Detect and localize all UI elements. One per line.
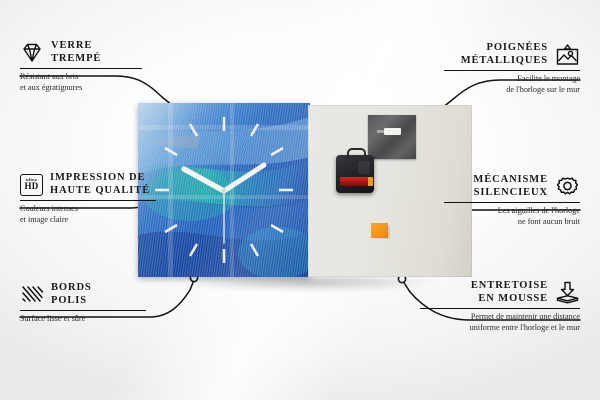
callout-description: Couleurs intenses et image claire	[20, 204, 160, 225]
callout-title: VERRE TREMPÉ	[51, 40, 101, 65]
callout-rule	[444, 202, 580, 203]
callout-rule	[444, 70, 580, 71]
gear-icon	[555, 176, 580, 198]
callout-rule	[20, 68, 142, 69]
metal-hanger-plate	[368, 115, 416, 159]
callout-verre-trempe[interactable]: VERRE TREMPÉ Résistant aux bris et aux é…	[20, 40, 150, 93]
callout-head: ultra HD IMPRESSION DE HAUTE QUALITÉ	[20, 172, 160, 197]
callout-bords-polis[interactable]: BORDS POLIS Surface lisse et sûre	[20, 282, 150, 325]
callout-rule	[20, 200, 156, 201]
callout-head: MÉCANISME SILENCIEUX	[444, 174, 580, 199]
clock-movement	[336, 155, 374, 193]
callout-description: Les aiguilles de l'horloge ne font aucun…	[444, 206, 580, 227]
callout-title: POIGNÉES MÉTALLIQUES	[461, 42, 548, 67]
callout-description: Surface lisse et sûre	[20, 314, 150, 325]
callout-mecanisme-silencieux[interactable]: MÉCANISME SILENCIEUX Les aiguilles de l'…	[444, 174, 580, 227]
callout-head: VERRE TREMPÉ	[20, 40, 150, 65]
callout-description: Permet de maintenir une distance uniform…	[420, 312, 580, 333]
ultra-hd-icon: ultra HD	[20, 174, 43, 196]
hanger-slot	[384, 128, 401, 135]
movement-housing-detail	[358, 161, 370, 174]
movement-hanger-hook	[347, 148, 366, 159]
callout-head: BORDS POLIS	[20, 282, 150, 307]
infographic-canvas: VERRE TREMPÉ Résistant aux bris et aux é…	[0, 0, 600, 400]
callout-title: BORDS POLIS	[51, 282, 92, 307]
battery	[340, 177, 371, 186]
callout-head: POIGNÉES MÉTALLIQUES	[444, 42, 580, 67]
callout-rule	[420, 308, 580, 309]
callout-description: Facilite le montage de l'horloge sur le …	[444, 74, 580, 95]
arrow-down-onto-pad-icon	[555, 281, 580, 304]
callout-rule	[20, 310, 146, 311]
clock-face-front	[138, 103, 310, 277]
callout-poignees-metalliques[interactable]: POIGNÉES MÉTALLIQUES Facilite le montage…	[444, 42, 580, 95]
product-image	[138, 103, 472, 279]
callout-title: ENTRETOISE EN MOUSSE	[471, 280, 548, 305]
battery-plus-terminal	[368, 177, 373, 186]
diamond-icon	[20, 42, 44, 63]
callout-entretoise-en-mousse[interactable]: ENTRETOISE EN MOUSSE Permet de maintenir…	[420, 280, 580, 333]
callout-head: ENTRETOISE EN MOUSSE	[420, 280, 580, 305]
glass-gloss-overlay	[138, 103, 310, 277]
foam-spacer	[371, 223, 388, 238]
hanging-picture-frame-icon	[555, 44, 580, 66]
ultra-hd-icon-main-text: HD	[25, 182, 39, 191]
callout-title: IMPRESSION DE HAUTE QUALITÉ	[50, 172, 150, 197]
polished-edge-lines-icon	[20, 284, 44, 305]
callout-description: Résistant aux bris et aux égratignures	[20, 72, 150, 93]
callout-title: MÉCANISME SILENCIEUX	[473, 174, 548, 199]
callout-impression-haute-qualite[interactable]: ultra HD IMPRESSION DE HAUTE QUALITÉ Cou…	[20, 172, 160, 225]
